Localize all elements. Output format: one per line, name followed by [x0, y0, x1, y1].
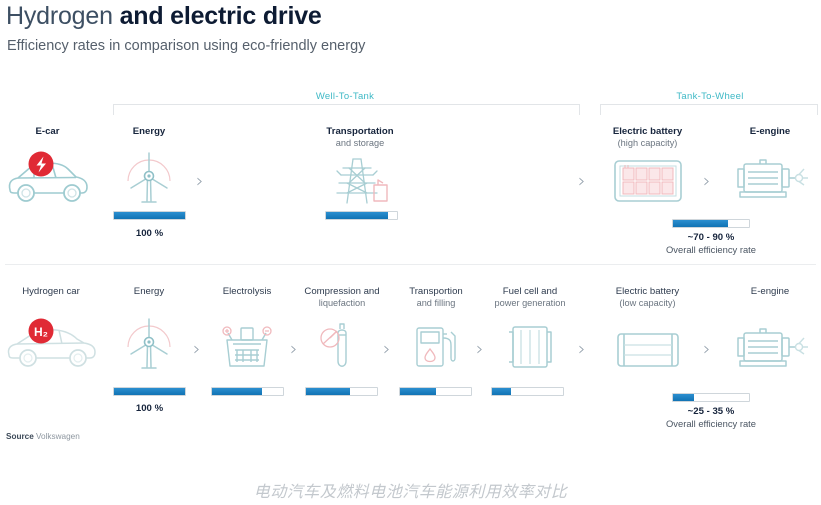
fuel-pump-icon [392, 318, 480, 376]
hydrogen-step-engine-label: E-engine [722, 286, 818, 298]
hydrogen-bar-compression [305, 387, 378, 396]
hydrogen-overall-note: Overall efficiency rate [642, 418, 780, 429]
chevron-right-icon: › [196, 172, 204, 191]
chevron-right-icon: › [578, 172, 586, 191]
e-car-step-energy-label: Energy [105, 126, 193, 138]
power-pylon-icon [290, 152, 430, 208]
e-car-step-battery-label: Electric battery (high capacity) [595, 126, 700, 149]
hydrogen-bar-fuelcell [491, 387, 564, 396]
e-car-step-transportation-label: Transportation and storage [290, 126, 430, 149]
title-bold: and electric drive [120, 2, 322, 30]
hydrogen-bar-overall [672, 393, 750, 402]
e-car-overall-note: Overall efficiency rate [642, 244, 780, 255]
e-car-bar-energy [113, 211, 186, 220]
hydrogen-step-compression-label: Compression and liquefaction [295, 286, 389, 309]
battery-low-icon [595, 322, 700, 378]
e-car-overall-pct: ~70 - 90 % [662, 232, 760, 243]
wind-turbine-icon [105, 146, 193, 208]
title-light: Hydrogen [6, 2, 113, 30]
chevron-right-icon: › [383, 340, 391, 359]
e-car-icon [0, 148, 95, 210]
chevron-right-icon: › [703, 172, 711, 191]
section-label-tank-to-wheel: Tank-To-Wheel [640, 91, 780, 102]
hydrogen-step-transportation-label: Transportion and filling [392, 286, 480, 309]
e-car-pct-energy: 100 % [113, 228, 186, 239]
hydrogen-step-fuelcell-label: Fuel cell and power generation [482, 286, 578, 309]
chevron-right-icon: › [578, 340, 586, 359]
chevron-right-icon: › [703, 340, 711, 359]
wind-turbine-icon [110, 312, 188, 374]
row-divider [5, 264, 816, 265]
electric-motor-icon [722, 320, 818, 376]
page-subtitle: Efficiency rates in comparison using eco… [7, 38, 365, 54]
bracket-well-to-tank [113, 104, 580, 115]
source-value: Volkswagen [36, 432, 80, 441]
gas-cylinder-icon [295, 318, 389, 376]
electric-motor-icon [722, 150, 818, 208]
bracket-tank-to-wheel [600, 104, 818, 115]
battery-high-icon [595, 152, 700, 210]
fuel-cell-stack-icon [482, 318, 578, 376]
chevron-right-icon: › [193, 340, 201, 359]
e-car-bar-overall [672, 219, 750, 228]
svg-text:H₂: H₂ [34, 325, 48, 339]
hydrogen-bar-electrolysis [211, 387, 284, 396]
hydrogen-bar-energy [113, 387, 186, 396]
e-car-bar-transportation [325, 211, 398, 220]
e-car-vehicle-label: E-car [0, 126, 95, 138]
bottom-caption: 电动汽车及燃料电池汽车能源利用效率对比 [0, 478, 821, 502]
source-label: Source [6, 432, 34, 441]
hydrogen-step-energy-label: Energy [110, 286, 188, 298]
electrolyser-icon [205, 318, 289, 376]
hydrogen-step-battery-label: Electric battery (low capacity) [595, 286, 700, 309]
section-label-well-to-tank: Well-To-Tank [275, 91, 415, 102]
e-car-step-engine-label: E-engine [722, 126, 818, 138]
page-title: Hydrogen and electric drive [6, 2, 322, 31]
source-line: Source Volkswagen [6, 432, 80, 441]
hydrogen-bar-transportation [399, 387, 472, 396]
hydrogen-car-icon: H₂ [0, 315, 102, 375]
hydrogen-pct-energy: 100 % [113, 403, 186, 414]
hydrogen-overall-pct: ~25 - 35 % [662, 406, 760, 417]
hydrogen-step-electrolysis-label: Electrolysis [205, 286, 289, 298]
hydrogen-car-vehicle-label: Hydrogen car [0, 286, 102, 298]
